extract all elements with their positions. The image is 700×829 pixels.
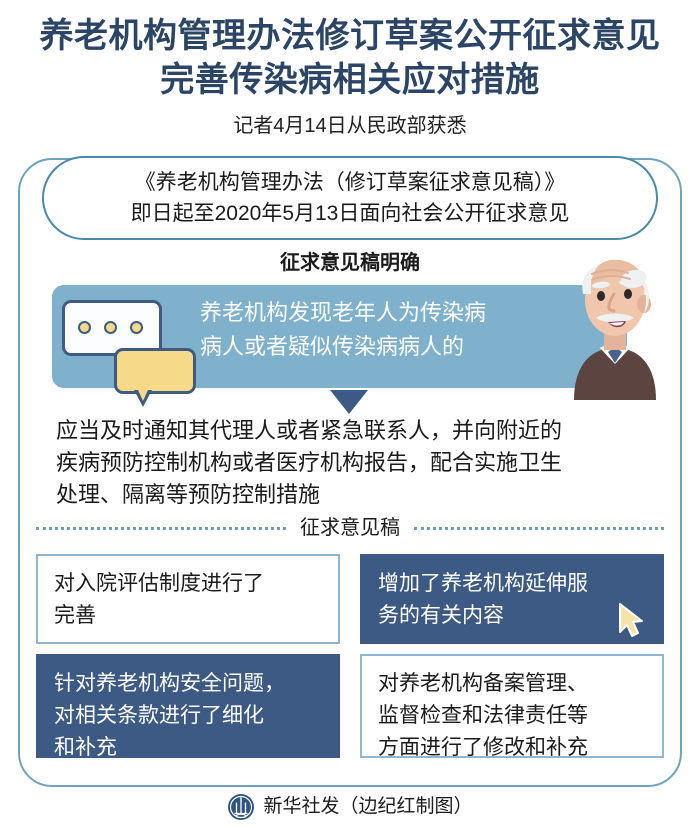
highlight-box-2[interactable]: 增加了养老机构延伸服 务的有关内容	[360, 554, 664, 644]
highlight-box-2-line-2: 务的有关内容	[378, 600, 648, 632]
highlight-box-1[interactable]: 对入院评估制度进行了 完善	[36, 554, 340, 644]
page-subtitle: 记者4月14日从民政部获悉	[0, 113, 700, 139]
speech-bubble-yellow-tail	[134, 390, 152, 407]
highlight-box-4-line-1: 对养老机构备案管理、	[378, 668, 648, 700]
notice-pill-line-1: 《养老机构管理办法（修订草案征求意见稿）》	[135, 167, 566, 198]
quote-text: 养老机构发现老年人为传染病 病人或者疑似传染病病人的	[200, 296, 560, 364]
page-header: 养老机构管理办法修订草案公开征求意见 完善传染病相关应对措施 记者4月14日从民…	[0, 0, 700, 139]
highlight-box-4-line-2: 监督检查和法律责任等	[378, 700, 648, 732]
footer-credit: 新华社发（边纪红制图）	[0, 793, 700, 821]
page-title-line-1: 养老机构管理办法修订草案公开征求意见	[0, 14, 700, 58]
divider-dots-left	[36, 527, 286, 530]
body-line-3: 处理、隔离等预防控制措施	[56, 479, 656, 511]
body-line-1: 应当及时通知其代理人或者紧急联系人，并向附近的	[56, 415, 656, 447]
highlight-box-4-text: 对养老机构备案管理、 监督检查和法律责任等 方面进行了修改和补充	[378, 668, 648, 764]
notice-pill: 《养老机构管理办法（修订草案征求意见稿）》 即日起至2020年5月13日面向社会…	[42, 156, 658, 240]
bubble-dot-1	[78, 321, 91, 334]
quote-line-1: 养老机构发现老年人为传染病	[200, 296, 560, 330]
quote-line-2: 病人或者疑似传染病病人的	[200, 330, 560, 364]
footer-credit-text: 新华社发（边纪红制图）	[263, 794, 472, 820]
section-divider: 征求意见稿	[36, 512, 664, 544]
highlight-box-1-line-2: 完善	[54, 600, 324, 632]
speech-bubbles-icon	[62, 300, 197, 404]
highlight-box-1-text: 对入院评估制度进行了 完善	[54, 568, 324, 632]
highlight-box-4-line-3: 方面进行了修改和补充	[378, 732, 648, 764]
highlight-grid: 对入院评估制度进行了 完善 增加了养老机构延伸服 务的有关内容 针对养老机构安全…	[36, 554, 664, 758]
down-triangle-icon	[330, 390, 368, 414]
divider-dots-right	[414, 527, 664, 530]
page-title-line-2: 完善传染病相关应对措施	[0, 58, 700, 102]
body-line-2: 疾病预防控制机构或者医疗机构报告，配合实施卫生	[56, 447, 656, 479]
speech-bubble-yellow	[114, 348, 196, 394]
notice-pill-line-2: 即日起至2020年5月13日面向社会公开征求意见	[131, 198, 570, 229]
divider-label: 征求意见稿	[300, 515, 400, 541]
highlight-box-3-line-3: 和补充	[54, 732, 324, 764]
highlight-box-3-text: 针对养老机构安全问题， 对相关条款进行了细化 和补充	[54, 668, 324, 764]
bubble-dot-2	[104, 321, 117, 334]
xinhua-logo-icon	[227, 793, 255, 821]
bubble-dot-3	[130, 321, 143, 334]
highlight-box-2-line-1: 增加了养老机构延伸服	[378, 568, 648, 600]
highlight-box-1-line-1: 对入院评估制度进行了	[54, 568, 324, 600]
highlight-box-3[interactable]: 针对养老机构安全问题， 对相关条款进行了细化 和补充	[36, 654, 340, 758]
body-paragraph: 应当及时通知其代理人或者紧急联系人，并向附近的 疾病预防控制机构或者医疗机构报告…	[56, 415, 656, 511]
highlight-box-3-line-2: 对相关条款进行了细化	[54, 700, 324, 732]
elderly-man-illustration	[556, 248, 674, 400]
highlight-box-4[interactable]: 对养老机构备案管理、 监督检查和法律责任等 方面进行了修改和补充	[360, 654, 664, 758]
highlight-box-2-text: 增加了养老机构延伸服 务的有关内容	[378, 568, 648, 632]
highlight-box-3-line-1: 针对养老机构安全问题，	[54, 668, 324, 700]
